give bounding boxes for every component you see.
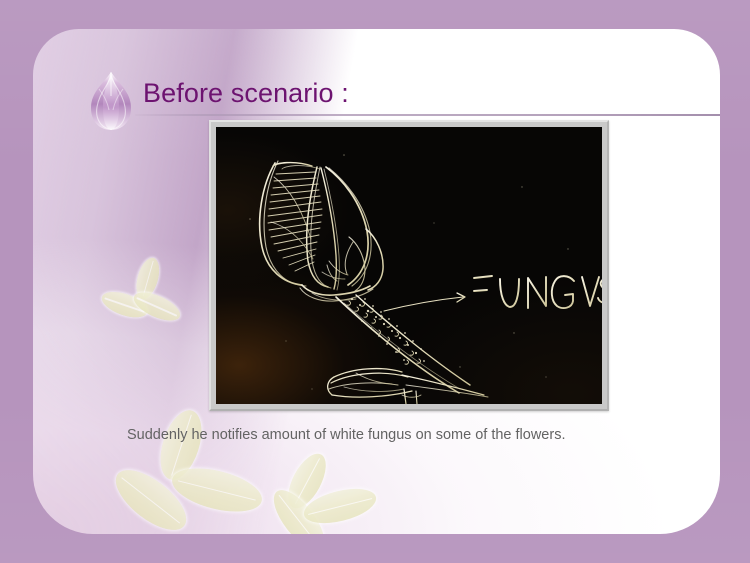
slide-caption: Suddenly he notifies amount of white fun… [127,425,565,445]
leaf-petal [153,405,209,485]
leaf-petal [168,460,266,519]
tulip-sketch-photo [216,127,602,404]
leaf-petal [106,459,196,534]
page-title: Before scenario : [143,76,349,110]
leaf-petal [130,287,184,327]
trillium-leaf-group-mid-left-icon [99,270,191,342]
leaf-petal [99,287,151,323]
slide-content-panel: Before scenario : [33,29,720,534]
title-divider [135,114,720,116]
trillium-leaf-group-lower-center-icon [251,461,401,534]
leaf-petal [281,448,334,514]
picture-frame [209,120,609,411]
leaf-petal [300,482,379,529]
slide: Before scenario : [0,0,750,563]
tulip-sketch-drawing [216,127,602,404]
lotus-bud-icon [85,70,137,132]
leaf-petal [132,255,163,301]
leaf-petal [265,482,333,534]
